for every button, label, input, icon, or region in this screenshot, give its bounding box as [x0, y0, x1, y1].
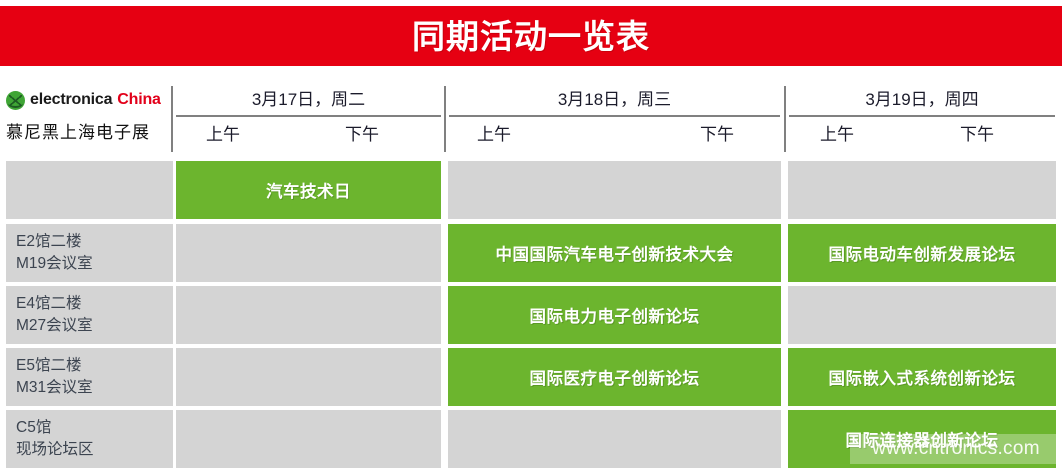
day-1-date: 3月17日，周二 — [176, 86, 441, 114]
cell-r3-day2-text: 国际电力电子创新论坛 — [530, 303, 700, 327]
row-label-5-text: C5馆 现场论坛区 — [16, 417, 94, 462]
row-label-5: C5馆 现场论坛区 — [6, 410, 173, 468]
row-label-4-text: E5馆二楼 M31会议室 — [16, 355, 93, 400]
row-label-1 — [6, 161, 173, 219]
cell-r5-day1 — [176, 410, 441, 468]
electronica-globe-icon — [6, 91, 25, 110]
logo-wordmark-row: electronica China — [6, 85, 166, 115]
row-label-2-text: E2馆二楼 M19会议室 — [16, 231, 93, 276]
day-1-afternoon-label: 下午 — [345, 122, 379, 148]
exhibition-logo: electronica China 慕尼黑上海电子展 — [6, 82, 166, 154]
cell-r3-day1 — [176, 286, 441, 344]
row-label-4: E5馆二楼 M31会议室 — [6, 348, 173, 406]
cell-r1-day1-text: 汽车技术日 — [266, 178, 351, 202]
cell-r5-day2 — [448, 410, 781, 468]
header-divider-3 — [784, 86, 786, 152]
header-divider-2 — [444, 86, 446, 152]
cell-r5-day3[interactable]: 国际连接器创新论坛 — [788, 410, 1056, 468]
row-label-3: E4馆二楼 M27会议室 — [6, 286, 173, 344]
header-rule-day-3 — [789, 115, 1055, 117]
day-2-date: 3月18日，周三 — [449, 86, 780, 114]
cell-r2-day3-text: 国际电动车创新发展论坛 — [829, 241, 1016, 265]
page-title-banner: 同期活动一览表 — [0, 6, 1062, 66]
cell-r4-day3[interactable]: 国际嵌入式系统创新论坛 — [788, 348, 1056, 406]
day-2-afternoon-label: 下午 — [700, 122, 734, 148]
cell-r2-day3[interactable]: 国际电动车创新发展论坛 — [788, 224, 1056, 282]
day-1-morning-label: 上午 — [206, 122, 240, 148]
cell-r1-day3 — [788, 161, 1056, 219]
logo-brand-chinese: 慕尼黑上海电子展 — [6, 118, 166, 143]
cell-r4-day2[interactable]: 国际医疗电子创新论坛 — [448, 348, 781, 406]
cell-r3-day3 — [788, 286, 1056, 344]
day-3-date: 3月19日，周四 — [789, 86, 1055, 114]
cell-r1-day2 — [448, 161, 781, 219]
cell-r4-day2-text: 国际医疗电子创新论坛 — [530, 365, 700, 389]
header-divider-1 — [171, 86, 173, 152]
cell-r2-day2[interactable]: 中国国际汽车电子创新技术大会 — [448, 224, 781, 282]
page-title: 同期活动一览表 — [412, 20, 650, 53]
day-3-morning-label: 上午 — [820, 122, 854, 148]
day-3-afternoon-label: 下午 — [960, 122, 994, 148]
header-rule-day-1 — [176, 115, 441, 117]
header-rule-day-2 — [449, 115, 780, 117]
logo-brand-secondary: China — [117, 91, 160, 109]
cell-r2-day2-text: 中国国际汽车电子创新技术大会 — [496, 241, 734, 265]
schedule-page: 同期活动一览表 electronica China 慕尼黑上海电子展 3月17日… — [0, 0, 1062, 472]
cell-r2-day1 — [176, 224, 441, 282]
day-2-morning-label: 上午 — [477, 122, 511, 148]
table-header: electronica China 慕尼黑上海电子展 3月17日，周二 上午 下… — [0, 78, 1062, 156]
cell-r4-day1 — [176, 348, 441, 406]
cell-r3-day2[interactable]: 国际电力电子创新论坛 — [448, 286, 781, 344]
schedule-grid: 汽车技术日 E2馆二楼 M19会议室 中国国际汽车电子创新技术大会 国际电动车创… — [0, 158, 1062, 472]
cell-r4-day3-text: 国际嵌入式系统创新论坛 — [829, 365, 1016, 389]
row-label-2: E2馆二楼 M19会议室 — [6, 224, 173, 282]
cell-r1-day1[interactable]: 汽车技术日 — [176, 161, 441, 219]
cell-r5-day3-text: 国际连接器创新论坛 — [846, 427, 999, 451]
row-label-3-text: E4馆二楼 M27会议室 — [16, 293, 93, 338]
logo-brand-primary: electronica — [30, 91, 112, 109]
